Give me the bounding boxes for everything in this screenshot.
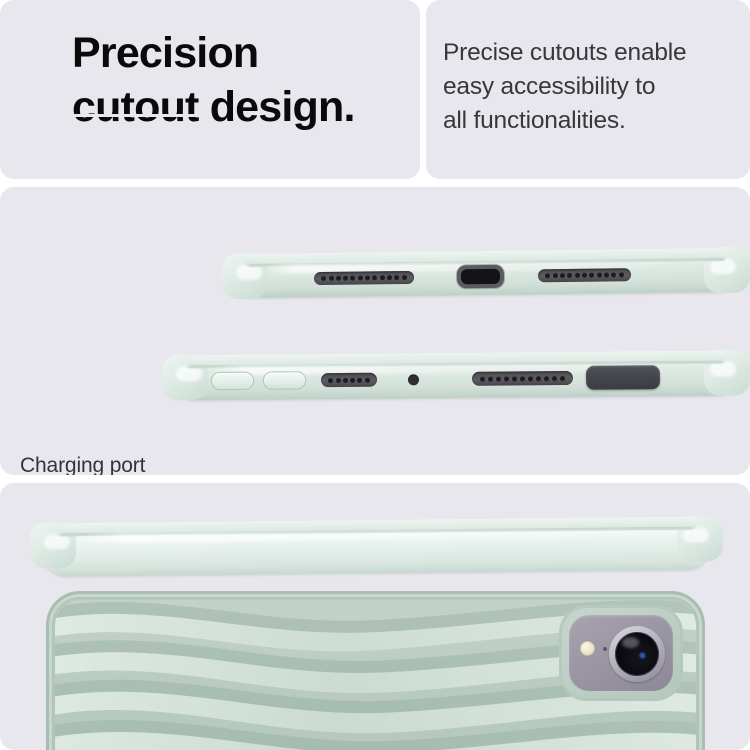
microphone-icon (408, 374, 419, 385)
touchid-button-icon[interactable] (586, 365, 660, 390)
device-edge-touch-id (176, 357, 736, 401)
usbc-port-icon (457, 265, 504, 289)
subcopy-line-3: all functionalities. (443, 104, 739, 138)
subcopy-line-2: easy accessibility to (443, 70, 739, 104)
case-back-shell (46, 591, 705, 750)
subcopy-panel: Precise cutouts enable easy accessibilit… (426, 0, 750, 179)
microphone-icon (603, 647, 607, 651)
camera-lens-glint (639, 652, 646, 659)
camera-plate (569, 615, 673, 691)
speaker-grille-icon (314, 271, 414, 285)
camera-lens-icon (609, 626, 665, 682)
speaker-grille-icon (538, 268, 631, 282)
speaker-grille-icon (472, 371, 573, 386)
camera-lens-highlight (622, 637, 639, 648)
feature-description: Precise cutouts enable easy accessibilit… (443, 36, 739, 137)
headline-line-1: Precision (72, 27, 412, 79)
headline-line-2-rest: design. (199, 83, 355, 131)
device-edge-charging-port (236, 254, 736, 298)
cutout-detail-panel: Charging port Touch ID (0, 187, 750, 475)
charging-port-label: Charging port (20, 454, 145, 475)
camera-lens-glass (615, 632, 659, 676)
case-back-panel (0, 483, 750, 750)
subcopy-line-1: Precise cutouts enable (443, 36, 739, 70)
volume-button-icon[interactable] (264, 372, 305, 388)
camera-module (559, 605, 683, 701)
headline-line-2: cutout design. (72, 81, 412, 133)
device-edge-top (44, 523, 709, 577)
headline-cutout-word: cutout (72, 81, 199, 133)
product-feature-graphic: Precision cutout design. Precise cutouts… (0, 0, 750, 750)
camera-flash-icon (580, 641, 595, 656)
headline-panel: Precision cutout design. (0, 0, 420, 179)
volume-button-icon[interactable] (212, 373, 253, 389)
speaker-grille-icon (321, 373, 377, 387)
page-title: Precision cutout design. (72, 27, 412, 134)
